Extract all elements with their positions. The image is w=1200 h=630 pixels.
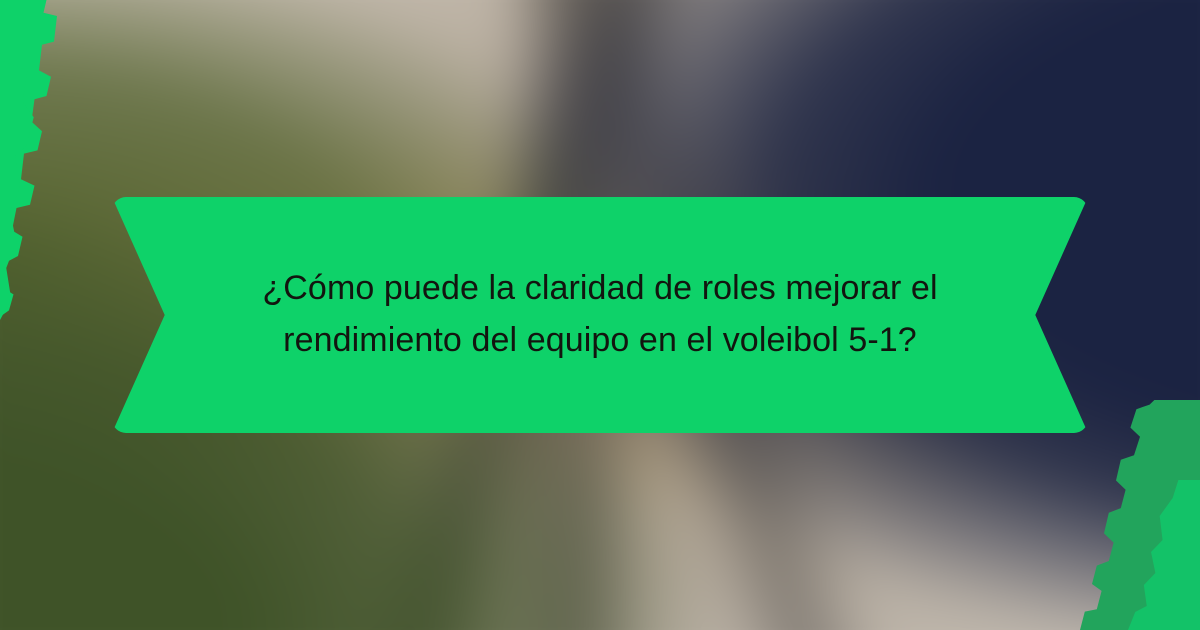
question-card: ¿Cómo puede la claridad de roles mejorar… (0, 0, 1200, 630)
question-banner: ¿Cómo puede la claridad de roles mejorar… (112, 197, 1088, 433)
question-text: ¿Cómo puede la claridad de roles mejorar… (172, 263, 1028, 366)
